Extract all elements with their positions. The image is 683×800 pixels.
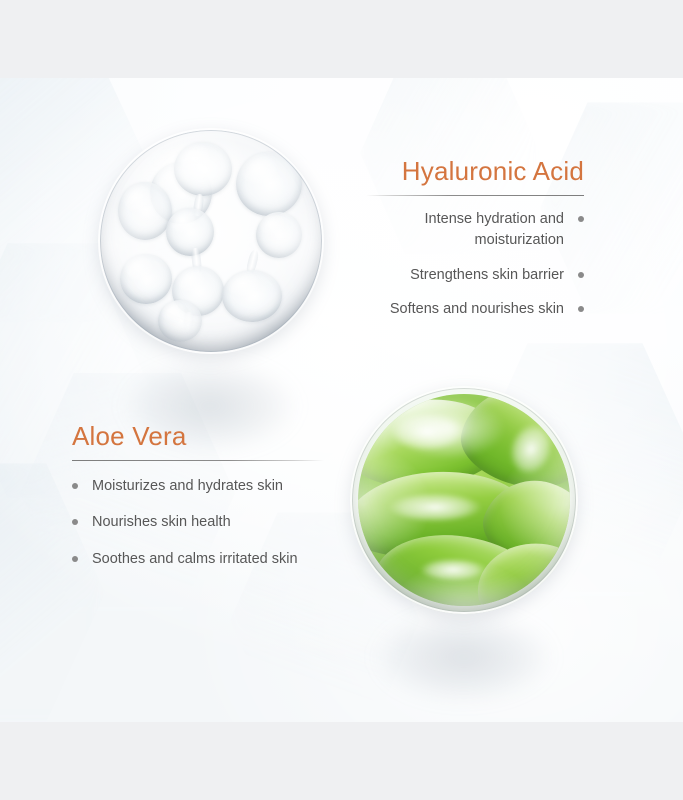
bubble-neck	[193, 193, 205, 216]
list-item: Soothes and calms irritated skin	[72, 549, 324, 570]
bubble	[118, 182, 172, 240]
bullet-dot-icon	[72, 483, 78, 489]
bubble	[256, 212, 302, 258]
list-item: Intense hydration and moisturization	[366, 209, 584, 252]
water-gel-sphere-image	[98, 128, 324, 354]
leaf-specular-highlight	[388, 412, 466, 456]
list-item: Nourishes skin health	[72, 512, 324, 533]
benefit-text: Strengthens skin barrier	[410, 265, 564, 286]
glass-rim-light	[98, 128, 324, 354]
hyaluronic-acid-benefit-list: Intense hydration and moisturization Str…	[366, 209, 584, 321]
bullet-dot-icon	[578, 272, 584, 278]
list-item: Moisturizes and hydrates skin	[72, 476, 324, 497]
bubble	[222, 270, 282, 322]
leaf-specular-highlight	[418, 558, 488, 584]
glass-highlight	[134, 139, 274, 216]
list-item: Strengthens skin barrier	[366, 265, 584, 286]
list-item: Softens and nourishes skin	[366, 299, 584, 320]
bubble	[166, 208, 214, 256]
title-divider	[366, 195, 584, 196]
bubble-neck	[183, 312, 193, 333]
benefit-text: Intense hydration and moisturization	[366, 209, 564, 252]
bubble	[172, 266, 224, 316]
benefit-text: Nourishes skin health	[92, 512, 231, 533]
aloe-vera-section: Aloe Vera Moisturizes and hydrates skin …	[72, 423, 324, 570]
leaf-specular-highlight	[386, 492, 484, 526]
ingredient-benefits-infographic: Hyaluronic Acid Intense hydration and mo…	[0, 0, 683, 800]
bullet-dot-icon	[578, 306, 584, 312]
aloe-sphere-shadow	[348, 598, 580, 716]
bubble	[174, 142, 232, 196]
bullet-dot-icon	[578, 216, 584, 222]
hyaluronic-acid-title: Hyaluronic Acid	[366, 158, 584, 184]
bullet-dot-icon	[72, 519, 78, 525]
bubble-neck	[245, 249, 260, 274]
bubble	[158, 300, 202, 342]
aloe-vera-benefit-list: Moisturizes and hydrates skin Nourishes …	[72, 476, 324, 570]
bullet-dot-icon	[72, 556, 78, 562]
benefit-text: Soothes and calms irritated skin	[92, 549, 298, 570]
bubble	[150, 162, 212, 224]
benefit-text: Moisturizes and hydrates skin	[92, 476, 283, 497]
aloe-vera-title: Aloe Vera	[72, 423, 324, 449]
bubble-neck	[191, 248, 203, 275]
aloe-leaves-group	[358, 394, 570, 606]
hyaluronic-acid-section: Hyaluronic Acid Intense hydration and mo…	[366, 158, 584, 321]
bubble	[236, 152, 302, 216]
bubble	[120, 254, 172, 304]
content-stage: Hyaluronic Acid Intense hydration and mo…	[0, 78, 683, 722]
benefit-text: Softens and nourishes skin	[390, 299, 564, 320]
title-divider	[72, 460, 324, 461]
aloe-vera-sphere-image	[350, 386, 578, 614]
